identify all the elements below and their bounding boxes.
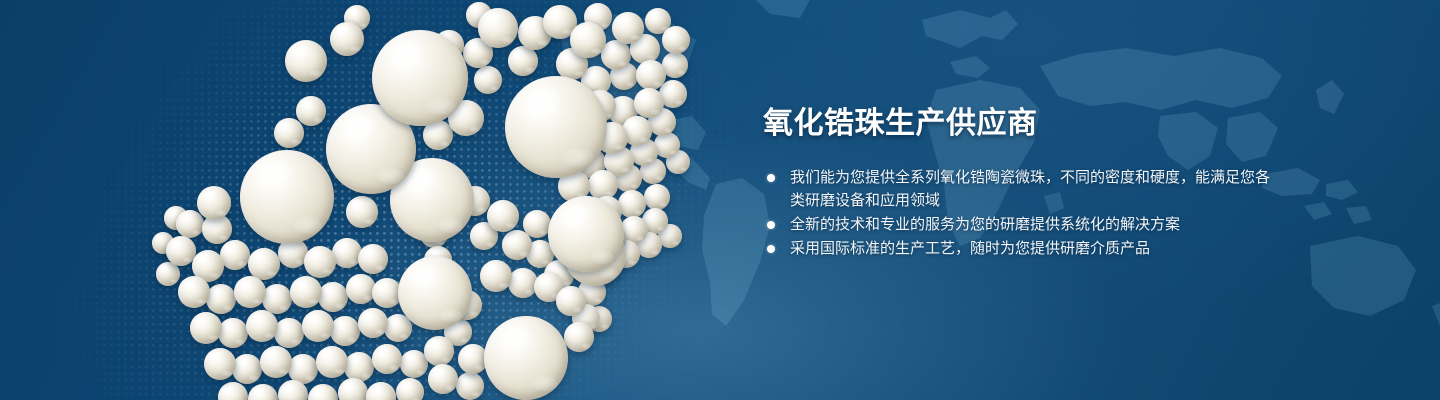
feature-list-item: 我们能为您提供全系列氧化锆陶瓷微珠，不同的密度和硬度，能满足您各类研磨设备和应用… [763, 166, 1283, 212]
filled-circle-icon [767, 245, 775, 253]
feature-list-item-label: 采用国际标准的生产工艺，随时为您提供研磨介质产品 [790, 237, 1283, 260]
banner-copy: 氧化锆珠生产供应商 我们能为您提供全系列氧化锆陶瓷微珠，不同的密度和硬度，能满足… [763, 104, 1283, 261]
filled-circle-icon [767, 221, 775, 229]
feature-list-item: 采用国际标准的生产工艺，随时为您提供研磨介质产品 [763, 237, 1283, 260]
page-title: 氧化锆珠生产供应商 [763, 104, 1283, 144]
feature-list: 我们能为您提供全系列氧化锆陶瓷微珠，不同的密度和硬度，能满足您各类研磨设备和应用… [763, 166, 1283, 260]
hero-banner: 氧化锆珠生产供应商 我们能为您提供全系列氧化锆陶瓷微珠，不同的密度和硬度，能满足… [0, 0, 1440, 400]
feature-list-item-label: 我们能为您提供全系列氧化锆陶瓷微珠，不同的密度和硬度，能满足您各类研磨设备和应用… [790, 166, 1283, 212]
feature-list-item-label: 全新的技术和专业的服务为您的研磨提供系统化的解决方案 [790, 213, 1283, 236]
filled-circle-icon [767, 174, 775, 182]
feature-list-item: 全新的技术和专业的服务为您的研磨提供系统化的解决方案 [763, 213, 1283, 236]
